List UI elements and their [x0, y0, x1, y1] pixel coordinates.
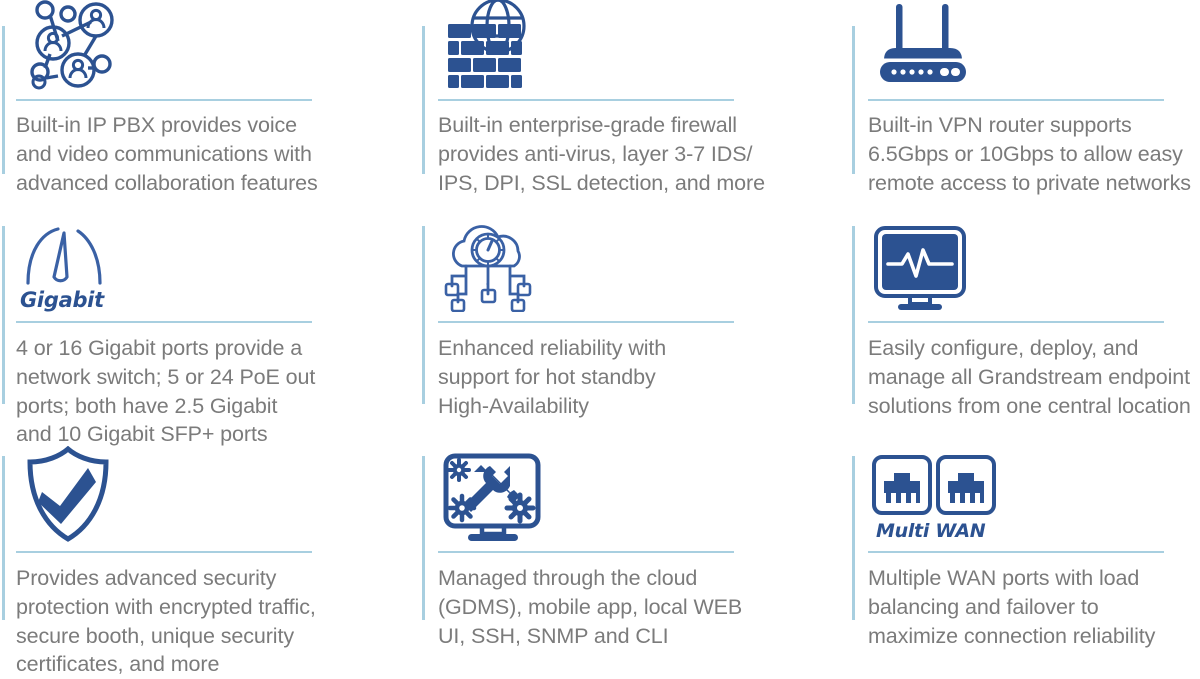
feature-grid: Built-in IP PBX provides voice and video… — [0, 0, 1200, 646]
cloud-high-availability-icon — [438, 200, 820, 312]
feature-card-multi-wan: Multi WAN Multiple WAN ports with load b… — [820, 430, 1200, 646]
divider — [868, 321, 1164, 323]
feature-card-ip-pbx: Built-in IP PBX provides voice and video… — [0, 0, 400, 200]
divider — [16, 99, 312, 101]
feature-description: Managed through the cloud (GDMS), mobile… — [438, 564, 820, 650]
monitor-pulse-icon — [868, 200, 1200, 312]
accent-bar — [2, 456, 5, 620]
feature-card-high-availability: Enhanced reliability with support for ho… — [400, 200, 820, 430]
accent-bar — [422, 26, 425, 174]
accent-bar — [422, 226, 425, 404]
feature-card-firewall: Built-in enterprise-grade firewall provi… — [400, 0, 820, 200]
feature-card-central-management: Easily configure, deploy, and manage all… — [820, 200, 1200, 430]
divider — [438, 551, 734, 553]
feature-description: Built-in VPN router supports 6.5Gbps or … — [868, 111, 1200, 197]
divider — [868, 99, 1164, 101]
feature-card-security: Provides advanced security protection wi… — [0, 430, 400, 646]
feature-description: Built-in enterprise-grade firewall provi… — [438, 111, 820, 197]
accent-bar — [852, 226, 855, 404]
shield-check-icon — [16, 430, 400, 542]
gigabit-speedometer-icon: Gigabit — [16, 200, 400, 312]
accent-bar — [852, 456, 855, 620]
multi-wan-wordmark: Multi WAN — [876, 520, 985, 542]
monitor-tools-gears-icon — [438, 430, 820, 542]
accent-bar — [2, 226, 5, 404]
divider — [16, 551, 312, 553]
feature-description: Multiple WAN ports with load balancing a… — [868, 564, 1200, 650]
feature-description: Easily configure, deploy, and manage all… — [868, 334, 1200, 420]
divider — [16, 321, 312, 323]
accent-bar — [422, 456, 425, 620]
vpn-router-icon — [868, 0, 1200, 90]
network-users-icon — [16, 0, 400, 90]
multi-wan-rj45-icon: Multi WAN — [868, 430, 1200, 542]
feature-description: Provides advanced security protection wi… — [16, 564, 400, 679]
feature-card-vpn-router: Built-in VPN router supports 6.5Gbps or … — [820, 0, 1200, 200]
divider — [868, 551, 1164, 553]
feature-card-gigabit: Gigabit 4 or 16 Gigabit ports provide a … — [0, 200, 400, 430]
accent-bar — [2, 26, 5, 174]
feature-card-management-interfaces: Managed through the cloud (GDMS), mobile… — [400, 430, 820, 646]
divider — [438, 99, 734, 101]
feature-description: Built-in IP PBX provides voice and video… — [16, 111, 400, 197]
divider — [438, 321, 734, 323]
gigabit-wordmark: Gigabit — [20, 288, 104, 312]
feature-description: Enhanced reliability with support for ho… — [438, 334, 820, 420]
accent-bar — [852, 26, 855, 174]
firewall-brick-globe-icon — [438, 0, 820, 90]
